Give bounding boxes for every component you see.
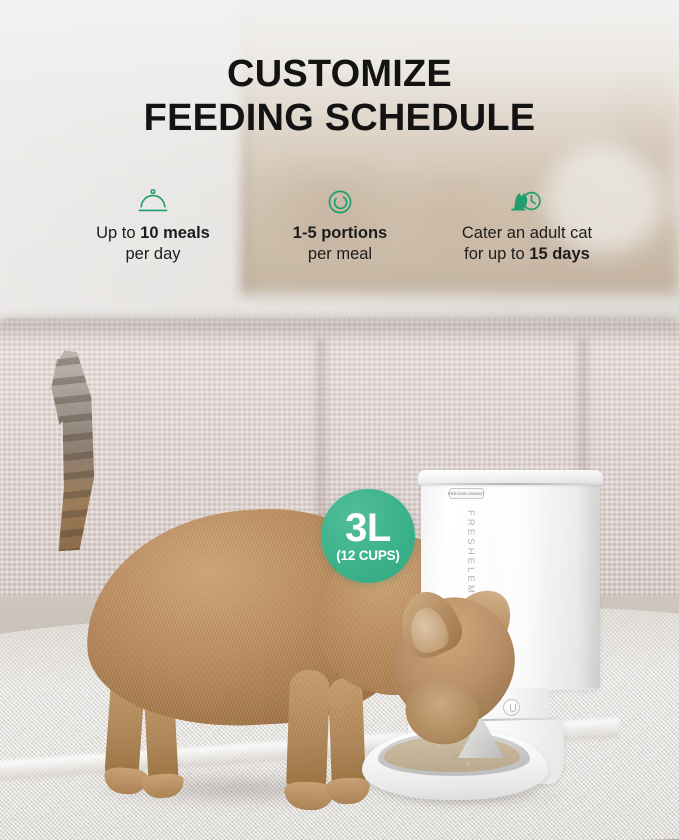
cat-clock-icon [434, 186, 620, 218]
feature-meals-text: Up to 10 meals per day [60, 223, 246, 265]
capacity-badge: 3L (12 CUPS) [321, 489, 415, 583]
feature-1-line2: per day [60, 244, 246, 265]
capacity-badge-value: 3L [345, 510, 391, 547]
cat-head-group [0, 330, 560, 830]
headline-line-1: CUSTOMIZE [227, 53, 452, 95]
feature-days-coverage: Cater an adult cat for up to 15 days [434, 186, 620, 265]
cloche-icon [60, 186, 246, 218]
page-title: CUSTOMIZE FEEDING SCHEDULE [0, 52, 679, 140]
feature-list: Up to 10 meals per day 1-5 portions per … [60, 186, 620, 265]
feature-3-line2-prefix: for up to [464, 245, 529, 263]
headline-line-2: FEEDING SCHEDULE [0, 96, 679, 140]
feature-portions-text: 1-5 portions per meal [247, 223, 433, 265]
feature-days-text: Cater an adult cat for up to 15 days [434, 223, 620, 265]
feature-3-strong: 15 days [529, 245, 590, 263]
hopper-right-edge [578, 480, 600, 688]
feature-meals-per-day: Up to 10 meals per day [60, 186, 246, 265]
feature-3-line1: Cater an adult cat [434, 223, 620, 244]
feature-1-prefix: Up to [96, 224, 140, 242]
portion-circle-icon [247, 186, 433, 218]
feature-1-strong: 10 meals [140, 224, 210, 242]
feature-2-strong: 1-5 portions [293, 224, 387, 242]
feature-2-line2: per meal [247, 244, 433, 265]
feature-portions-per-meal: 1-5 portions per meal [247, 186, 433, 265]
capacity-badge-cups: (12 CUPS) [336, 549, 399, 563]
